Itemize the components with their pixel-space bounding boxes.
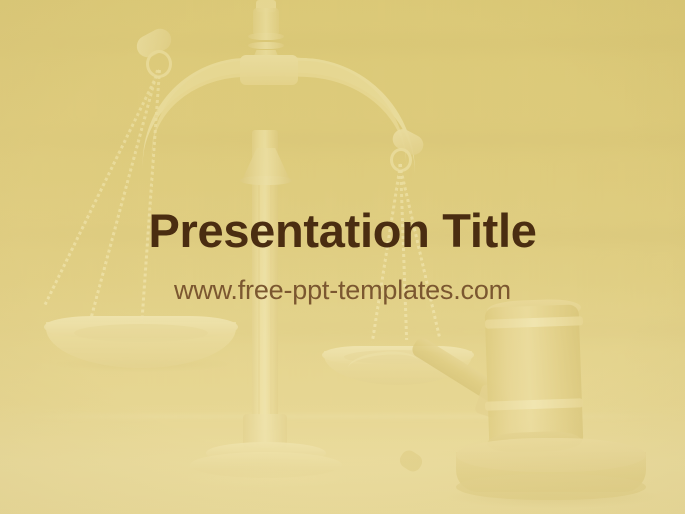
slide-text-layer: Presentation Title www.free-ppt-template… xyxy=(0,0,685,514)
page-title[interactable]: Presentation Title xyxy=(0,206,685,255)
slide-subtitle-url[interactable]: www.free-ppt-templates.com xyxy=(0,275,685,306)
presentation-slide: Presentation Title www.free-ppt-template… xyxy=(0,0,685,514)
